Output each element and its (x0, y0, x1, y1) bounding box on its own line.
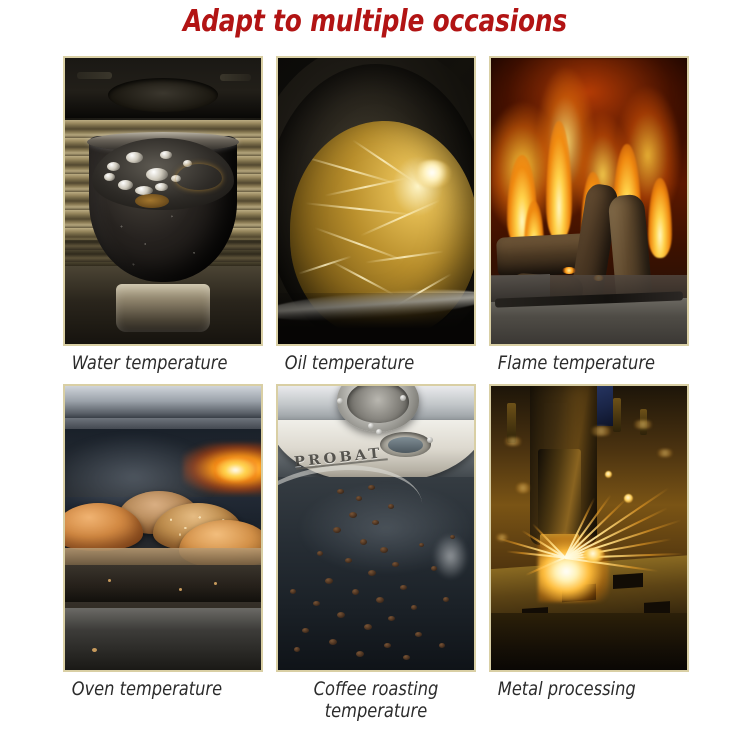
page-title: Adapt to multiple occasions (30, 4, 720, 39)
photo-coffee-roaster: PROBAT (278, 386, 474, 670)
caption-metal-processing: Metal processing (494, 679, 684, 700)
photo-boiling-water (65, 58, 261, 344)
cell-coffee-roasting-temperature[interactable]: PROBAT (276, 384, 476, 722)
photo-hot-oil (278, 58, 474, 344)
photo-frame-metal-processing (489, 384, 689, 672)
caption-water-temperature: Water temperature (68, 353, 258, 374)
caption-coffee-roasting-line2: temperature (281, 701, 471, 722)
caption-coffee-roasting-line1: Coffee roasting (281, 679, 471, 700)
photo-frame-oven-temperature (63, 384, 263, 672)
caption-oil-temperature: Oil temperature (281, 353, 471, 374)
coffee-beans (278, 477, 474, 670)
cell-water-temperature[interactable]: Water temperature (63, 56, 263, 374)
cell-metal-processing[interactable]: Metal processing (489, 384, 689, 722)
caption-flame-temperature: Flame temperature (494, 353, 684, 374)
photo-frame-oil-temperature (276, 56, 476, 346)
cell-oil-temperature[interactable]: Oil temperature (276, 56, 476, 374)
infographic-page: Adapt to multiple occasions (0, 0, 750, 750)
caption-oven-temperature: Oven temperature (68, 679, 258, 700)
photo-bread-oven (65, 386, 261, 670)
cell-flame-temperature[interactable]: Flame temperature (489, 56, 689, 374)
photo-fire-logs (491, 58, 687, 344)
cell-oven-temperature[interactable]: Oven temperature (63, 384, 263, 722)
photo-metal-cutting (491, 386, 687, 670)
photo-frame-coffee-roasting: PROBAT (276, 384, 476, 672)
grid-row-2: Oven temperature (63, 384, 689, 722)
occasions-grid: Water temperature (63, 56, 689, 722)
photo-frame-flame-temperature (489, 56, 689, 346)
photo-frame-water-temperature (63, 56, 263, 346)
grid-row-1: Water temperature (63, 56, 689, 374)
